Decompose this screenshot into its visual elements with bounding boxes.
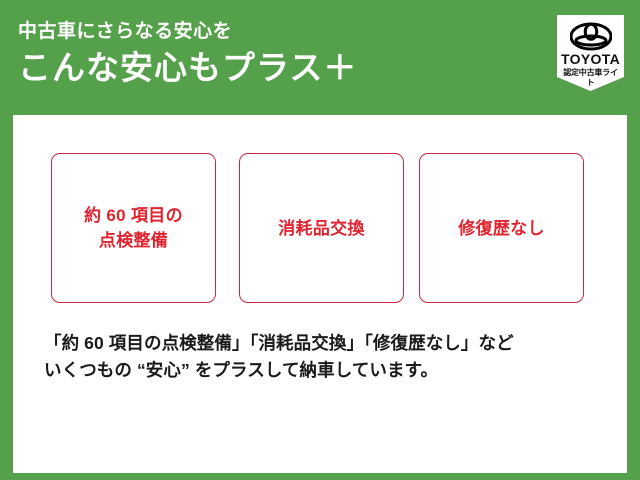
header-title: こんな安心もプラス＋ xyxy=(18,47,528,89)
banner-header: 中古車にさらなる安心を こんな安心もプラス＋ TOYOTA 認定中古車ライト xyxy=(0,0,640,115)
caption-line-2: いくつもの “安心” をプラスして納車しています。 xyxy=(44,357,614,384)
feature-box-label: 消耗品交換 xyxy=(278,216,365,241)
toyota-used-car-banner: 中古車にさらなる安心を こんな安心もプラス＋ TOYOTA 認定中古車ライト 約… xyxy=(0,0,640,480)
header-text-block: 中古車にさらなる安心を こんな安心もプラス＋ xyxy=(18,20,528,89)
caption-block: 「約 60 項目の点検整備」「消耗品交換」「修復歴なし」など いくつもの “安心… xyxy=(44,330,614,384)
feature-box-label: 修復歴なし xyxy=(458,216,545,241)
caption-line-1: 「約 60 項目の点検整備」「消耗品交換」「修復歴なし」など xyxy=(44,330,614,357)
content-card: 約 60 項目の 点検整備 消耗品交換 修復歴なし 「約 60 項目の点検整備」… xyxy=(13,115,627,473)
feature-box-row: 約 60 項目の 点検整備 消耗品交換 修復歴なし xyxy=(13,153,627,305)
toyota-logo: TOYOTA 認定中古車ライト xyxy=(557,15,624,103)
feature-box-label: 約 60 項目の 点検整備 xyxy=(84,203,183,253)
header-subtitle: 中古車にさらなる安心を xyxy=(18,20,528,44)
toyota-emblem-icon xyxy=(570,22,612,51)
feature-box-inspection: 約 60 項目の 点検整備 xyxy=(51,153,216,303)
feature-box-consumables: 消耗品交換 xyxy=(239,153,404,303)
toyota-wordmark: TOYOTA xyxy=(559,52,622,67)
logo-chevron-shape xyxy=(557,77,624,103)
feature-box-no-repair-history: 修復歴なし xyxy=(419,153,584,303)
